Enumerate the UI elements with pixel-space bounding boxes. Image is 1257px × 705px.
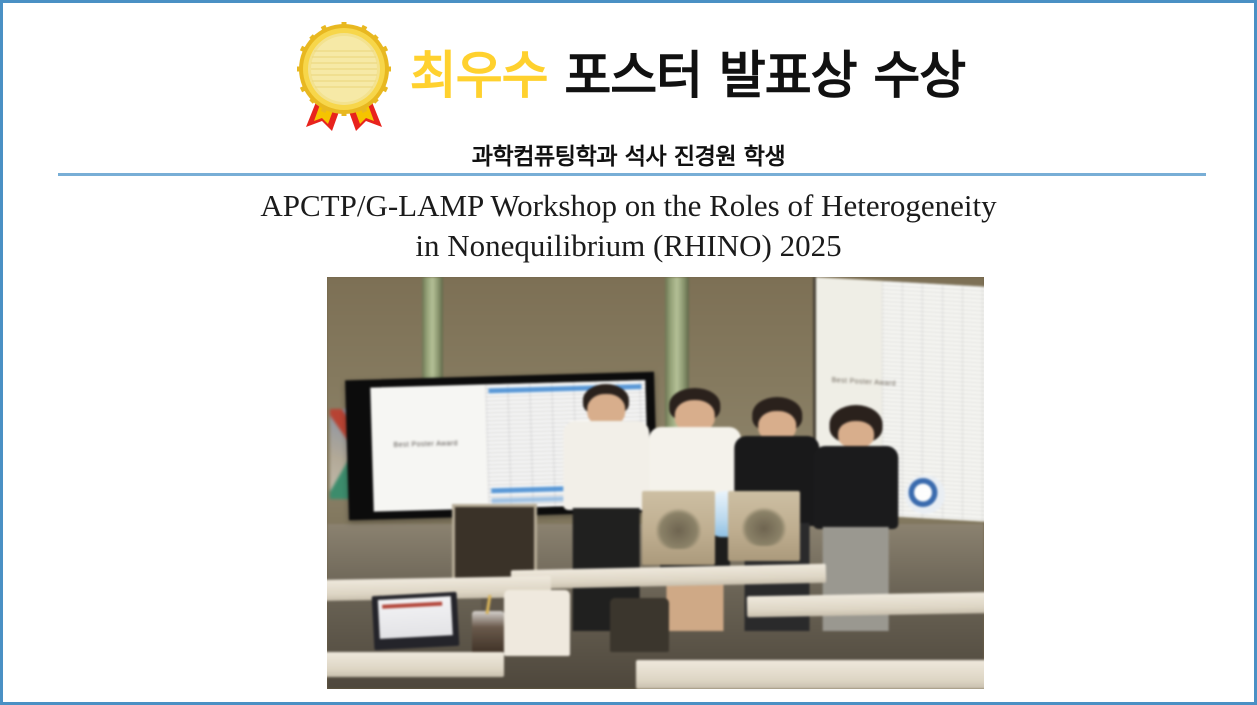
legs	[823, 527, 890, 631]
workshop-title-line2: in Nonequilibrium (RHINO) 2025	[3, 226, 1254, 266]
slide-frame: 최우수 포스터 발표상 수상 과학컴퓨팅학과 석사 진경원 학생 APCTP/G…	[0, 0, 1257, 705]
workshop-title-line1: APCTP/G-LAMP Workshop on the Roles of He…	[3, 186, 1254, 226]
photo-scene: Best Poster Award Best Poster Award	[327, 277, 984, 689]
workshop-title: APCTP/G-LAMP Workshop on the Roles of He…	[3, 186, 1254, 267]
laptop	[372, 592, 460, 650]
subtitle: 과학컴퓨팅학과 석사 진경원 학생	[472, 137, 785, 171]
shins	[666, 578, 723, 631]
chair-dark	[610, 598, 669, 652]
rhino-tote-bag-left	[642, 491, 714, 565]
header-divider	[58, 173, 1206, 176]
wall-logo-emblem	[905, 475, 944, 514]
headline-rest: 포스터 발표상 수상	[548, 47, 966, 106]
header: 최우수 포스터 발표상 수상 과학컴퓨팅학과 석사 진경원 학생	[3, 21, 1254, 171]
header-row: 최우수 포스터 발표상 수상	[292, 21, 965, 133]
chair-light	[504, 590, 570, 656]
torso	[564, 421, 649, 510]
iced-coffee-cup	[472, 611, 505, 656]
rhino-tote-bag-right	[728, 491, 800, 561]
table-front-right	[636, 660, 984, 689]
gold-medal-ribbon-icon	[292, 21, 396, 133]
table-front-left	[327, 652, 504, 677]
headline-highlight: 최우수	[410, 47, 548, 106]
person-left	[564, 384, 649, 631]
page-title: 최우수 포스터 발표상 수상	[410, 48, 965, 105]
award-ceremony-photo: Best Poster Award Best Poster Award	[327, 277, 984, 689]
torso	[813, 446, 898, 530]
head	[838, 421, 874, 448]
tv-screen-label: Best Poster Award	[393, 440, 457, 449]
table-back-right	[747, 592, 984, 617]
